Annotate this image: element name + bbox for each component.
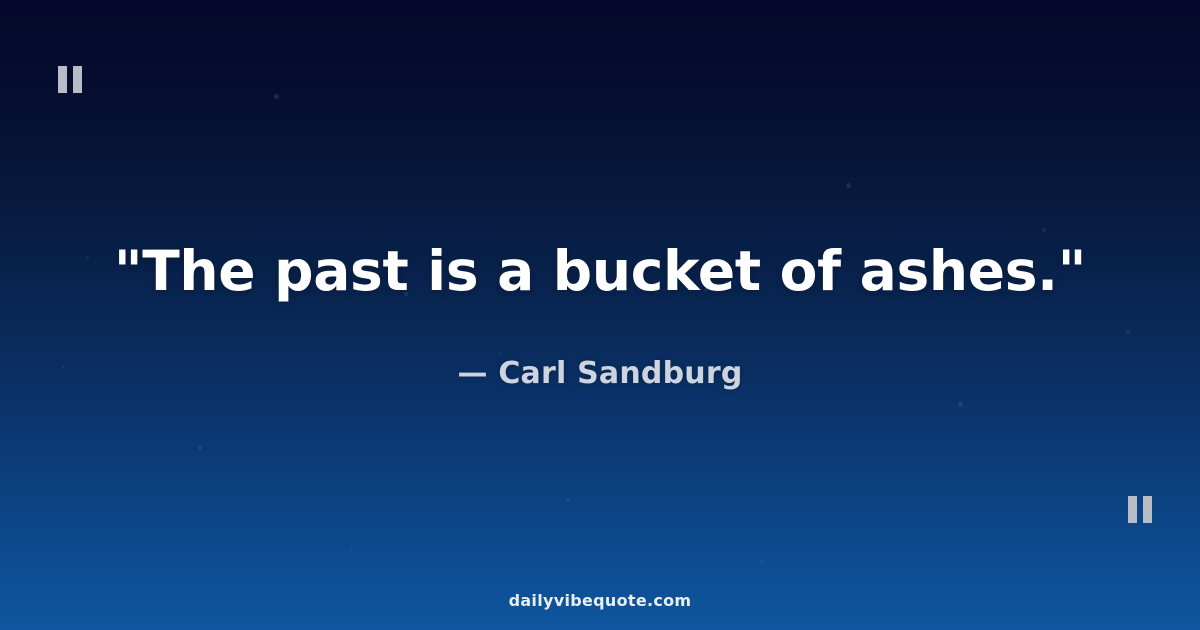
footer-site-name: dailyvibequote.com — [0, 591, 1200, 610]
quote-text: "The past is a bucket of ashes." — [70, 238, 1130, 304]
quote-card: "The past is a bucket of ashes." — Carl … — [0, 0, 1200, 630]
quote-content: "The past is a bucket of ashes." — Carl … — [0, 0, 1200, 630]
quote-attribution: — Carl Sandburg — [457, 356, 742, 392]
